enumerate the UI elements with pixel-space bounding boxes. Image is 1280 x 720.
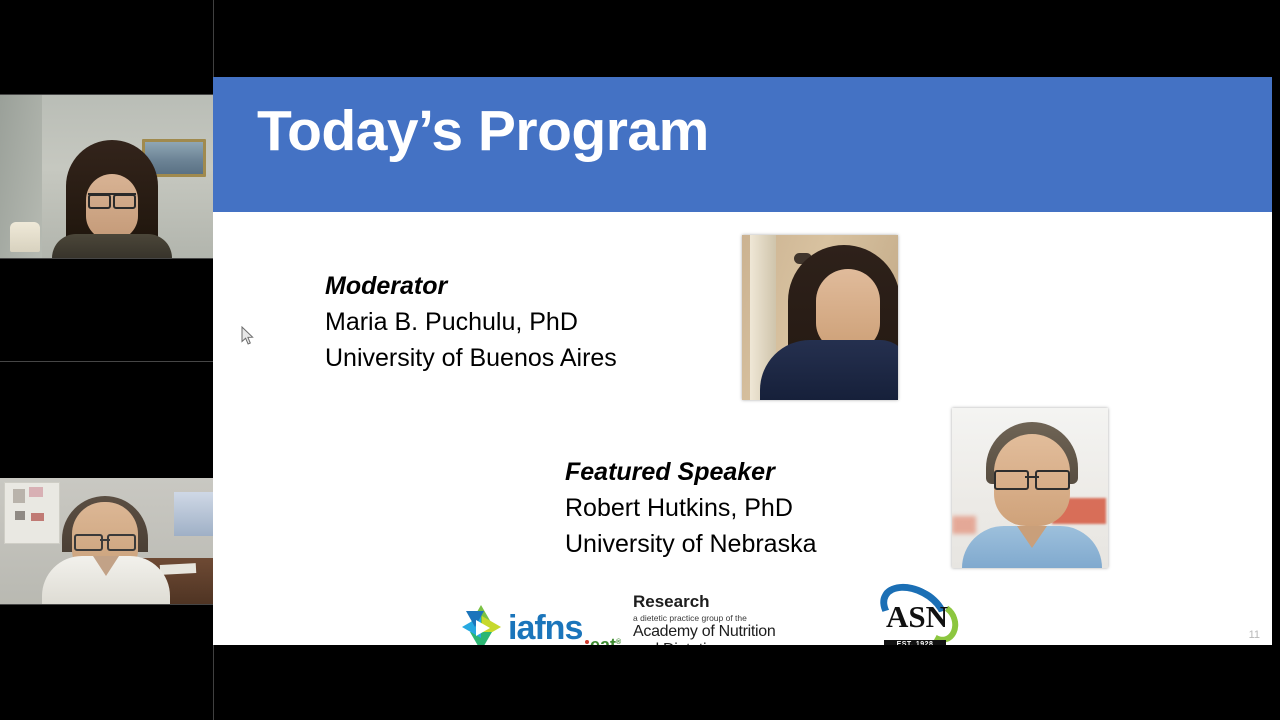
headshot-clothing	[962, 526, 1102, 568]
research-subline: a dietetic practice group of the	[633, 613, 893, 624]
asn-wordmark: ASN	[886, 599, 948, 635]
featured-speaker-role: Featured Speaker	[565, 455, 816, 490]
participant-video-feed	[0, 478, 214, 604]
iafns-wordmark: iafns	[508, 609, 582, 646]
window	[174, 492, 214, 536]
academy-line-2: and Dietetics	[633, 641, 893, 645]
headshot-clothing	[760, 340, 898, 400]
eatright-icon: eat® right	[585, 637, 625, 645]
tile-divider	[0, 604, 214, 605]
moderator-affiliation: University of Buenos Aires	[325, 340, 617, 377]
pinned-note	[15, 511, 25, 520]
screen-recording-frame: Today’s Program Moderator Maria B. Puchu…	[0, 0, 1280, 720]
shared-slide[interactable]: Today’s Program Moderator Maria B. Puchu…	[213, 77, 1272, 645]
tile-divider	[0, 361, 214, 362]
participant-tile-2[interactable]	[0, 95, 214, 258]
featured-speaker-headshot	[952, 408, 1108, 568]
headshot-background-accent	[952, 516, 976, 534]
iafns-cube-icon	[458, 605, 504, 645]
academy-research-dpg-logo: eat® right Research a dietetic practice …	[633, 593, 893, 645]
research-headline: Research	[633, 593, 893, 610]
headshot-face	[816, 269, 880, 351]
desk-paper	[160, 563, 196, 575]
mouse-cursor-icon	[241, 326, 255, 346]
glasses-icon	[994, 470, 1070, 486]
participant-tile-3[interactable]	[0, 259, 214, 361]
lamp	[10, 222, 40, 252]
moderator-role: Moderator	[325, 269, 617, 304]
participant-tile-4[interactable]	[0, 478, 214, 604]
glasses-icon	[88, 193, 136, 204]
asn-established: EST. 1928	[884, 640, 946, 645]
bulletin-board	[4, 482, 60, 544]
featured-speaker-affiliation: University of Nebraska	[565, 526, 816, 563]
pinned-note	[31, 513, 44, 521]
participant-video-feed	[0, 95, 214, 258]
asn-logo: ASN EST. 1928	[876, 587, 962, 645]
moderator-block: Moderator Maria B. Puchulu, PhD Universi…	[325, 269, 617, 377]
pinned-note	[29, 487, 43, 497]
page-title: Today’s Program	[257, 103, 709, 160]
eatright-top: eat	[590, 635, 616, 645]
participant-shirt	[42, 556, 170, 604]
participant-filmstrip	[0, 0, 214, 720]
sponsor-logo-row: iafns eat® right Research a dietetic pra…	[213, 573, 1272, 645]
slide-page-number: 11	[1249, 629, 1260, 641]
featured-speaker-name: Robert Hutkins, PhD	[565, 490, 816, 527]
moderator-name: Maria B. Puchulu, PhD	[325, 304, 617, 341]
participant-torso	[52, 234, 172, 258]
glasses-icon	[74, 534, 136, 547]
iafns-logo: iafns	[458, 605, 582, 645]
participant-tile-1[interactable]	[0, 0, 214, 95]
academy-line-1: Academy of Nutrition	[633, 623, 893, 641]
moderator-headshot	[742, 235, 898, 400]
featured-speaker-block: Featured Speaker Robert Hutkins, PhD Uni…	[565, 455, 816, 563]
pinned-note	[13, 489, 25, 503]
